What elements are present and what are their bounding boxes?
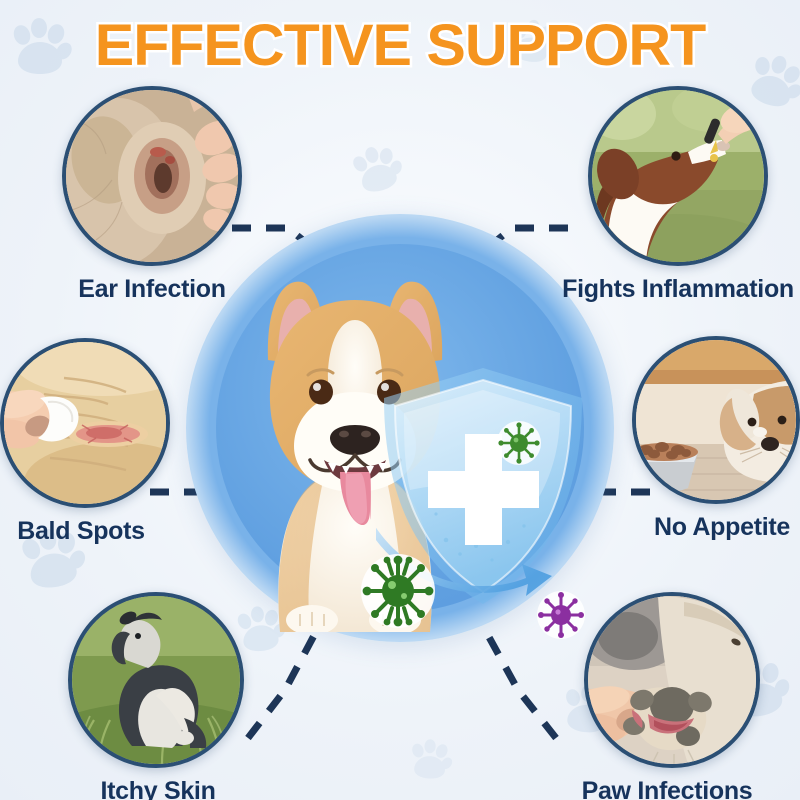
connector-paw-infections — [484, 628, 556, 738]
infographic-canvas: EFFECTIVE SUPPORT — [0, 0, 800, 800]
page-title-text: EFFECTIVE SUPPORT — [95, 12, 705, 79]
photo-paw-infections — [584, 592, 760, 768]
node-itchy-skin[interactable]: Itchy Skin — [68, 592, 248, 800]
node-label-bald-spots: Bald Spots — [0, 517, 174, 546]
green-virus-particle-small — [496, 420, 542, 466]
node-label-paw-infections: Paw Infections — [572, 777, 762, 800]
node-label-itchy-skin: Itchy Skin — [68, 777, 248, 800]
page-title: EFFECTIVE SUPPORT — [0, 12, 800, 79]
green-virus-particle — [359, 552, 437, 630]
photo-ear-infection — [62, 86, 242, 266]
node-fights-inflammation[interactable]: Fights Inflammation — [560, 86, 796, 304]
node-paw-infections[interactable]: Paw Infections — [572, 592, 762, 800]
node-bald-spots[interactable]: Bald Spots — [0, 338, 174, 546]
node-label-fights-inflammation: Fights Inflammation — [560, 275, 796, 304]
node-label-no-appetite: No Appetite — [632, 513, 800, 542]
node-no-appetite[interactable]: No Appetite — [632, 336, 800, 542]
connector-itchy-skin — [248, 628, 318, 738]
node-ear-infection[interactable]: Ear Infection — [62, 86, 242, 304]
photo-no-appetite — [632, 336, 800, 504]
node-label-ear-infection: Ear Infection — [62, 275, 242, 304]
center-composition — [186, 214, 614, 642]
photo-itchy-skin — [68, 592, 244, 768]
photo-bald-spots — [0, 338, 170, 508]
photo-fights-inflammation — [588, 86, 768, 266]
